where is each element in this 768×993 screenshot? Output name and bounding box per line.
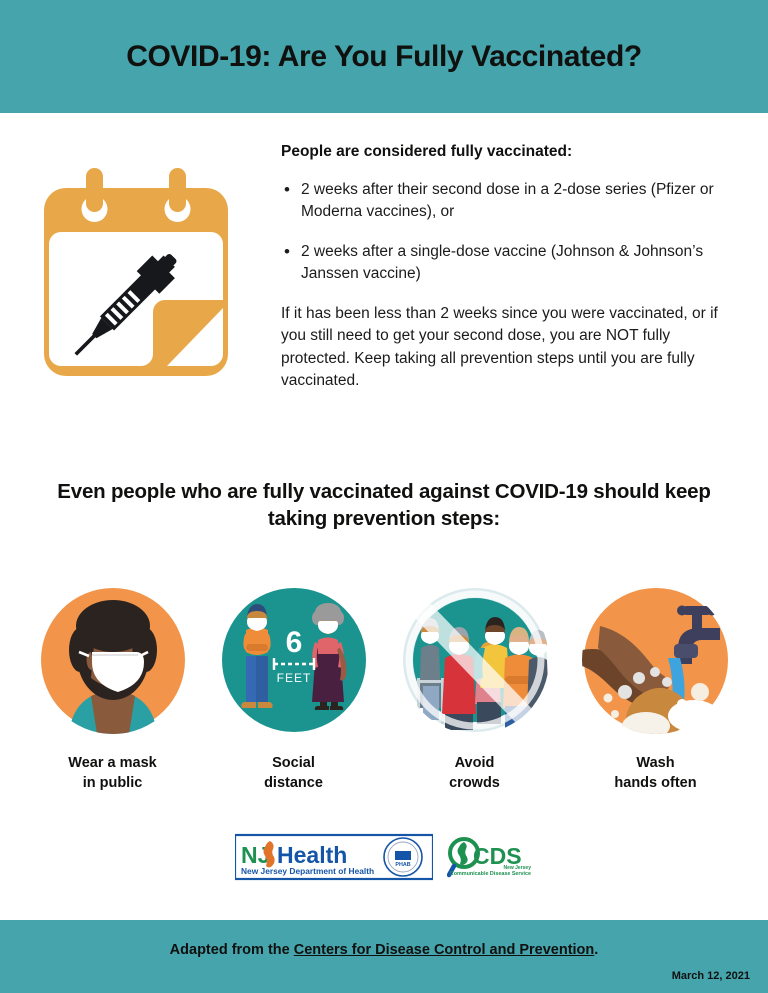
cds-logo-graphic: CDS New Jersey Communicable Disease Serv…: [447, 833, 533, 881]
prevention-step-mask: Wear a mask in public: [35, 586, 190, 793]
wear-mask-icon: [39, 586, 187, 734]
avoid-crowds-graphic: [401, 586, 549, 734]
page-title: COVID-19: Are You Fully Vaccinated?: [126, 40, 642, 74]
nj-health-logo-graphic: NJ Health New Jersey Department of Healt…: [235, 833, 433, 881]
prevention-caption: Avoid crowds: [449, 754, 500, 793]
vaccination-copy: People are considered fully vaccinated: …: [281, 143, 731, 392]
copy-heading: People are considered fully vaccinated:: [281, 143, 731, 161]
header-banner: COVID-19: Are You Fully Vaccinated?: [0, 0, 768, 113]
vaccination-note: If it has been less than 2 weeks since y…: [281, 303, 731, 392]
health-text: Health: [277, 842, 347, 868]
footer-date: March 12, 2021: [672, 970, 750, 982]
caption-line-1: Wear a mask: [68, 754, 156, 774]
caption-line-1: Social: [264, 754, 323, 774]
nj-tagline: New Jersey Department of Health: [241, 866, 374, 876]
prevention-step-crowds: Avoid crowds: [397, 586, 552, 793]
caption-line-2: hands often: [614, 774, 696, 794]
distance-unit: FEET: [276, 671, 311, 685]
nj-health-logo: NJ Health New Jersey Department of Healt…: [235, 833, 433, 881]
footer-attribution: Adapted from the Centers for Disease Con…: [0, 942, 768, 958]
caption-line-2: in public: [68, 774, 156, 794]
prevention-caption: Social distance: [264, 754, 323, 793]
vaccination-bullets: 2 weeks after their second dose in a 2-d…: [281, 179, 731, 285]
list-item: 2 weeks after a single-dose vaccine (Joh…: [281, 241, 731, 285]
fully-vaccinated-section: People are considered fully vaccinated: …: [0, 113, 768, 443]
footer-banner: Adapted from the Centers for Disease Con…: [0, 920, 768, 993]
wash-hands-graphic: [582, 586, 730, 734]
social-distance-graphic: 6 FEET: [220, 586, 368, 734]
prevention-steps-row: Wear a mask in public: [0, 586, 768, 793]
cds-logo: CDS New Jersey Communicable Disease Serv…: [447, 833, 533, 881]
social-distance-icon: 6 FEET: [220, 586, 368, 734]
prevention-heading: Even people who are fully vaccinated aga…: [34, 478, 734, 532]
prevention-caption: Wear a mask in public: [68, 754, 156, 793]
avoid-crowds-icon: [401, 586, 549, 734]
footer-prefix: Adapted from the: [170, 942, 294, 958]
logo-row: NJ Health New Jersey Department of Healt…: [0, 833, 768, 881]
wear-mask-graphic: [39, 586, 187, 734]
list-item: 2 weeks after their second dose in a 2-d…: [281, 179, 731, 223]
caption-line-2: distance: [264, 774, 323, 794]
caption-line-1: Wash: [614, 754, 696, 774]
prevention-step-distance: 6 FEET Social distance: [216, 586, 371, 793]
distance-number: 6: [285, 626, 302, 659]
infographic-page: COVID-19: Are You Fully Vaccinated?: [0, 0, 768, 993]
calendar-syringe-graphic: [36, 168, 236, 383]
caption-line-2: crowds: [449, 774, 500, 794]
footer-suffix: .: [594, 942, 598, 958]
cds-sub-bottom: Communicable Disease Service: [450, 871, 531, 877]
calendar-syringe-icon: [36, 168, 236, 383]
caption-line-1: Avoid: [449, 754, 500, 774]
phab-seal-text: PHAB: [395, 862, 410, 868]
cdc-link[interactable]: Centers for Disease Control and Preventi…: [294, 942, 595, 958]
prevention-caption: Wash hands often: [614, 754, 696, 793]
prevention-step-wash: Wash hands often: [578, 586, 733, 793]
wash-hands-icon: [582, 586, 730, 734]
